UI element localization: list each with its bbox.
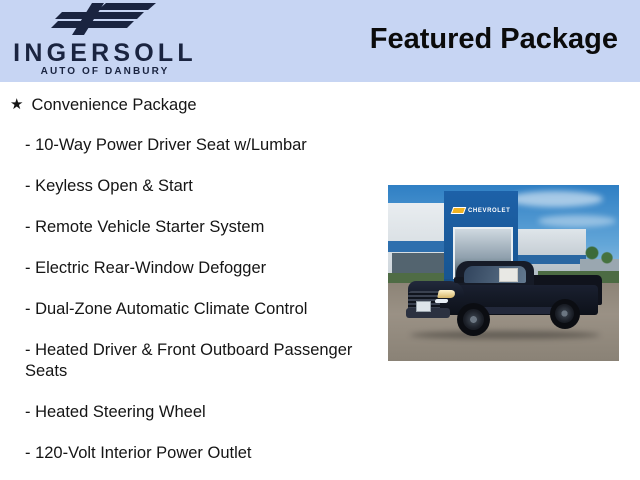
vehicle-photo: CHEVROLET	[388, 185, 619, 361]
side-mirror	[454, 277, 464, 283]
silverado-truck	[402, 259, 602, 335]
dealer-sign-label: CHEVROLET	[468, 208, 510, 214]
truck-daytime-running-light	[435, 299, 449, 303]
page-title: Featured Package	[370, 22, 618, 57]
front-rim	[463, 309, 484, 330]
list-item: ★Convenience Package	[10, 94, 197, 116]
dealer-plate	[416, 301, 431, 312]
feature-list: ★Convenience Package - 10-Way Power Driv…	[0, 82, 388, 480]
list-item: - Remote Vehicle Starter System	[25, 217, 264, 238]
list-item: - Heated Steering Wheel	[25, 402, 206, 423]
star-bullet-icon: ★	[10, 94, 23, 115]
truck-shadow	[410, 331, 600, 339]
palm-tree	[600, 249, 614, 265]
list-item: - Keyless Open & Start	[25, 176, 193, 197]
list-item: - 120-Volt Interior Power Outlet	[25, 443, 252, 464]
dealer-sign-text: CHEVROLET	[452, 203, 510, 219]
list-item: - 10-Way Power Driver Seat w/Lumbar	[25, 135, 307, 156]
list-item: - Electric Rear-Window Defogger	[25, 258, 266, 279]
list-item-label: Convenience Package	[31, 96, 196, 114]
truck-rocker-panel	[478, 307, 556, 314]
chevrolet-bowtie-icon	[451, 207, 467, 214]
dealer-name: INGERSOLL	[0, 41, 210, 66]
photo-cloud	[508, 191, 603, 207]
winged-chevron-emblem-icon	[48, 2, 172, 38]
photo-cloud	[538, 215, 616, 227]
page-header: INGERSOLL AUTO OF DANBURY Featured Packa…	[0, 0, 640, 82]
dealer-brand-logo: INGERSOLL AUTO OF DANBURY	[0, 0, 210, 82]
window-sticker	[499, 268, 518, 282]
dealer-subtitle: AUTO OF DANBURY	[0, 67, 210, 77]
list-item: - Heated Driver & Front Outboard Passeng…	[25, 340, 355, 382]
list-item: - Dual-Zone Automatic Climate Control	[25, 299, 307, 320]
rear-rim	[555, 304, 574, 323]
truck-headlight	[437, 290, 456, 298]
